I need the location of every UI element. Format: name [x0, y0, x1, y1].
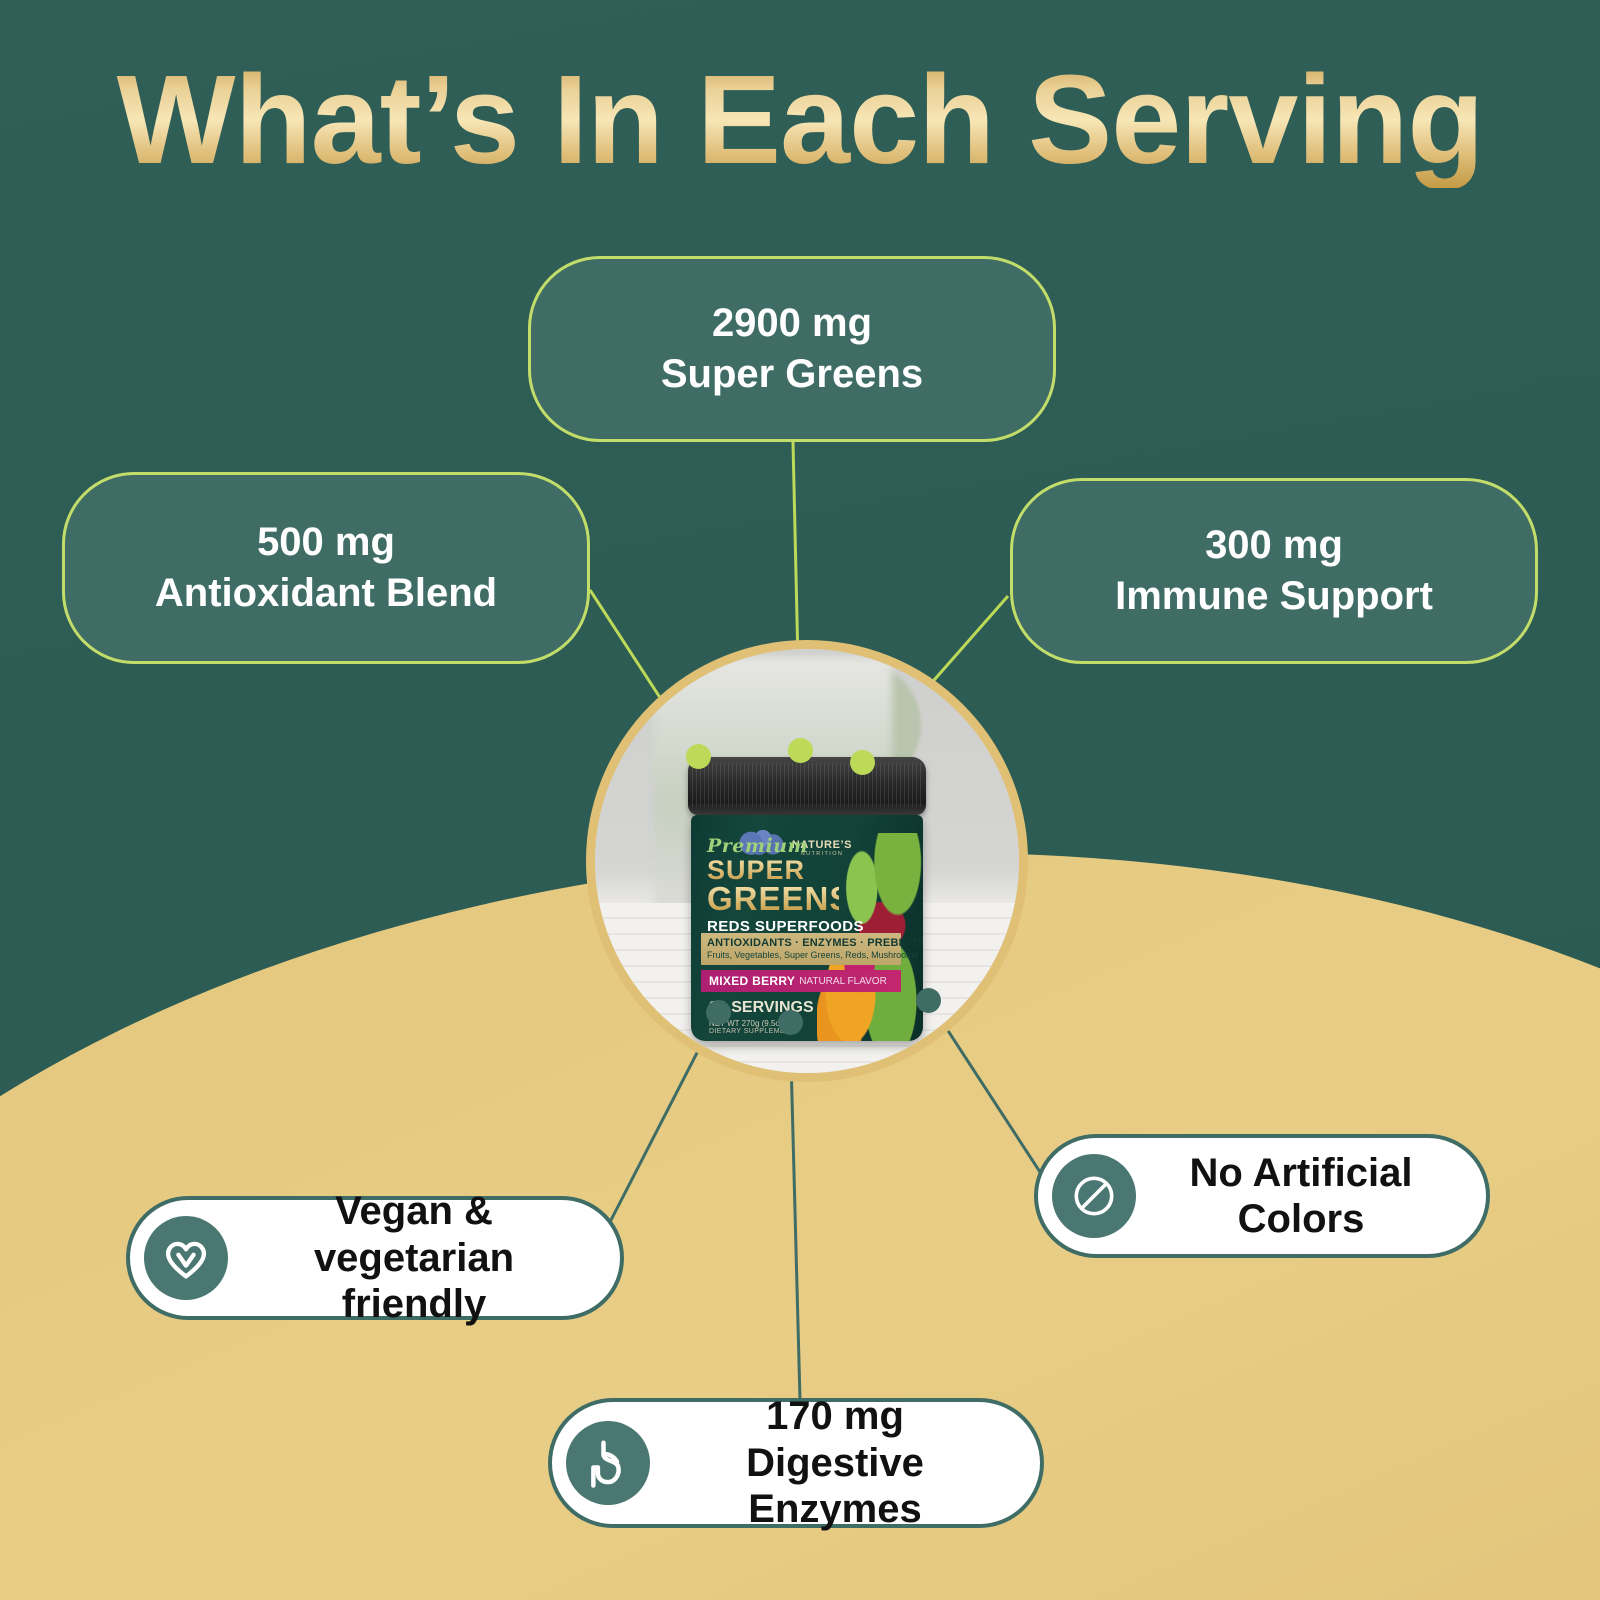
anchor-dot-immune [850, 750, 875, 775]
badge-line1: No Artificial [1150, 1150, 1452, 1196]
callout-label: Super Greens [661, 349, 923, 400]
callout-amount: 300 mg [1115, 520, 1433, 571]
badge-digestive-enzymes[interactable]: 170 mg Digestive Enzymes [548, 1398, 1044, 1528]
badge-label: Vegan & vegetarian friendly [242, 1188, 586, 1327]
badge-line2: Digestive Enzymes [664, 1440, 1006, 1533]
product-jar: NATURE’S NUTRITION Premium SUPER GREENS … [688, 757, 926, 1041]
badge-line2: Colors [1150, 1196, 1452, 1242]
badge-line2: friendly [242, 1281, 586, 1327]
label-premium: Premium [707, 835, 839, 857]
label-ingredients: Fruits, Vegetables, Super Greens, Reds, … [707, 950, 895, 960]
prohibition-icon [1052, 1154, 1136, 1238]
badge-line1: 170 mg [664, 1393, 1006, 1439]
jar-lid [688, 757, 926, 815]
label-text-block: Premium SUPER GREENS REDS SUPERFOODS [707, 835, 839, 935]
anchor-dot-enzymes [778, 1010, 803, 1035]
badge-line1: Vegan & vegetarian [242, 1188, 586, 1281]
stomach-icon [566, 1421, 650, 1505]
anchor-dot-vegan [706, 1000, 731, 1025]
anchor-dot-colors [916, 988, 941, 1013]
heart-icon [144, 1216, 228, 1300]
label-greens: GREENS [707, 883, 839, 915]
product-photo-circle: NATURE’S NUTRITION Premium SUPER GREENS … [586, 640, 1028, 1082]
callout-label: Immune Support [1115, 571, 1433, 622]
label-claims: ANTIOXIDANTS · ENZYMES · PREBIOTICS [707, 937, 895, 949]
callout-label: Antioxidant Blend [155, 568, 497, 619]
anchor-dot-antioxidant [686, 744, 711, 769]
callout-amount: 2900 mg [661, 298, 923, 349]
label-flavor-sub: NATURAL FLAVOR [795, 976, 887, 987]
callout-antioxidant-blend[interactable]: 500 mg Antioxidant Blend [62, 472, 590, 664]
label-claims-band: ANTIOXIDANTS · ENZYMES · PREBIOTICS Frui… [701, 933, 901, 965]
callout-super-greens[interactable]: 2900 mg Super Greens [528, 256, 1056, 442]
badge-label: 170 mg Digestive Enzymes [664, 1393, 1006, 1532]
badge-no-artificial-colors[interactable]: No Artificial Colors [1034, 1134, 1490, 1258]
badge-label: No Artificial Colors [1150, 1150, 1452, 1243]
callout-amount: 500 mg [155, 517, 497, 568]
badge-vegan-vegetarian[interactable]: Vegan & vegetarian friendly [126, 1196, 624, 1320]
callout-immune-support[interactable]: 300 mg Immune Support [1010, 478, 1538, 664]
label-flavor: MIXED BERRY [701, 974, 795, 988]
label-flavor-band: MIXED BERRY NATURAL FLAVOR [701, 970, 901, 992]
infographic-canvas: What’s In Each Serving 2900 mg Super Gre… [0, 0, 1600, 1600]
anchor-dot-supergreens [788, 738, 813, 763]
